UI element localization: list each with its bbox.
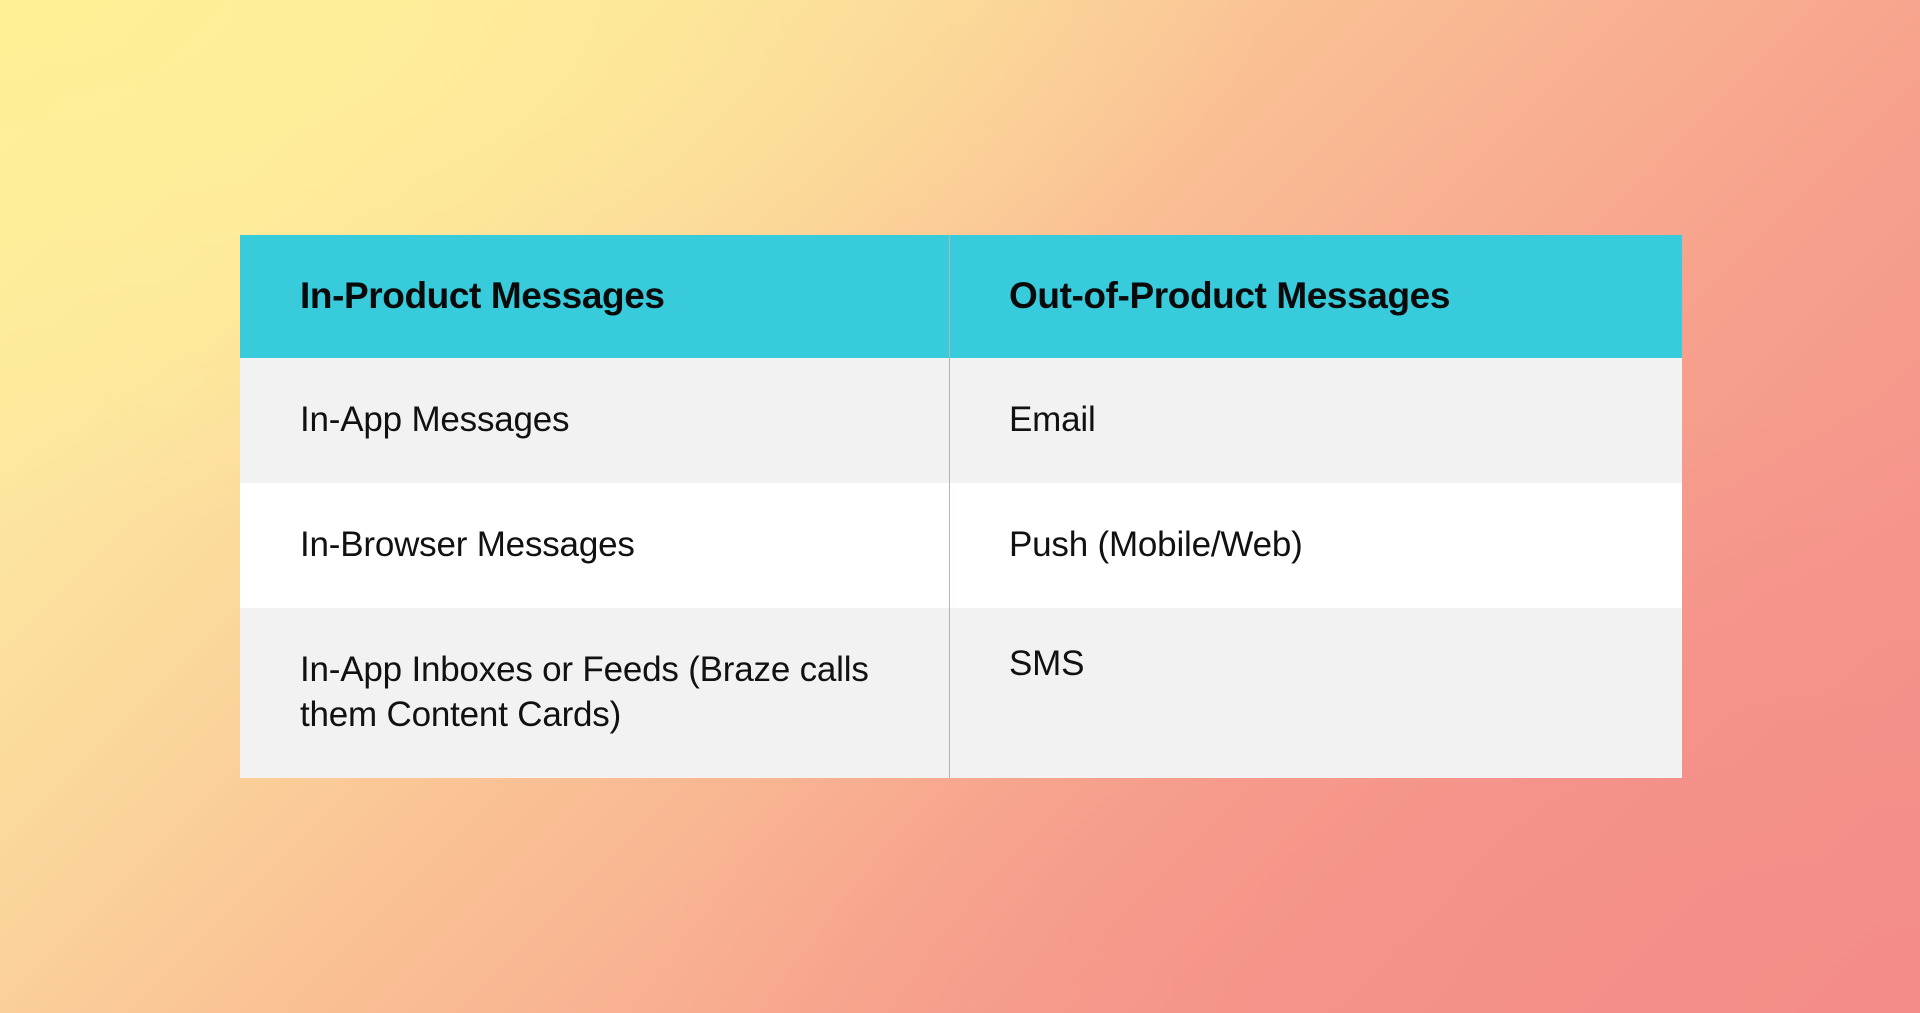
- table-header: In-Product Messages Out-of-Product Messa…: [240, 235, 1682, 358]
- table-body: In-App Messages Email In-Browser Message…: [240, 358, 1682, 778]
- message-channels-table: In-Product Messages Out-of-Product Messa…: [240, 235, 1682, 778]
- cell-out-of-product-3: SMS: [949, 608, 1682, 778]
- column-header-in-product: In-Product Messages: [240, 235, 949, 358]
- cell-in-product-1: In-App Messages: [240, 358, 949, 483]
- cell-in-product-2: In-Browser Messages: [240, 483, 949, 608]
- table-row: In-App Inboxes or Feeds (Braze calls the…: [240, 608, 1682, 778]
- table-header-row: In-Product Messages Out-of-Product Messa…: [240, 235, 1682, 358]
- table-row: In-Browser Messages Push (Mobile/Web): [240, 483, 1682, 608]
- cell-out-of-product-1: Email: [949, 358, 1682, 483]
- column-header-out-of-product: Out-of-Product Messages: [949, 235, 1682, 358]
- cell-in-product-3: In-App Inboxes or Feeds (Braze calls the…: [240, 608, 949, 778]
- table-container: In-Product Messages Out-of-Product Messa…: [240, 235, 1682, 778]
- cell-out-of-product-2: Push (Mobile/Web): [949, 483, 1682, 608]
- table-row: In-App Messages Email: [240, 358, 1682, 483]
